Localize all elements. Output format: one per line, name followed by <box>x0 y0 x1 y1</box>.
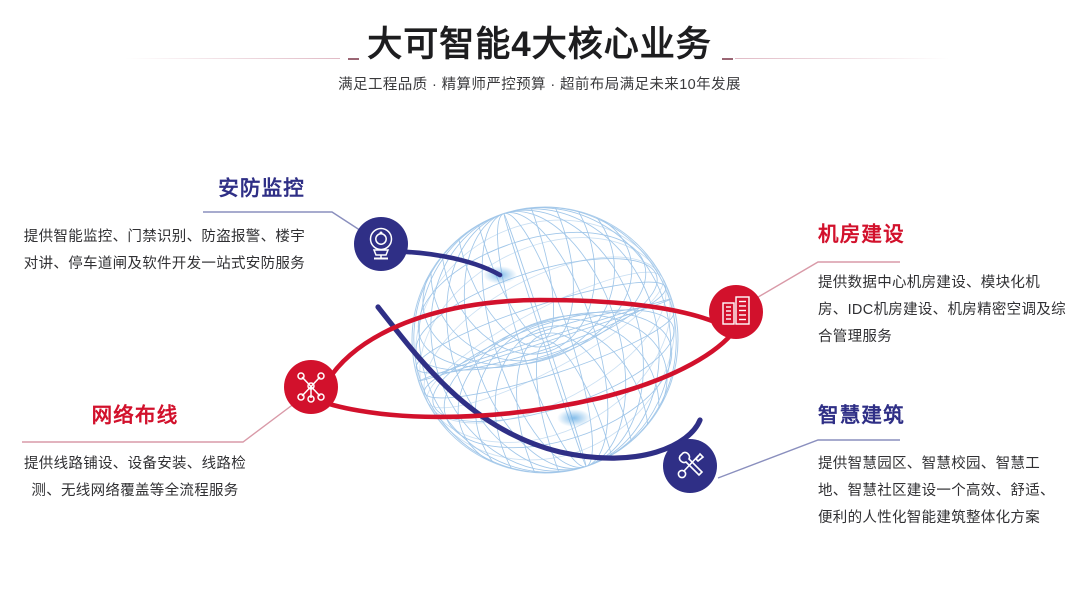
block-datacenter: 机房建设 提供数据中心机房建设、模块化机房、IDC机房建设、机房精密空调及综合管… <box>818 222 1068 351</box>
node-datacenter[interactable] <box>709 285 763 339</box>
label-cabling: 网络布线 <box>20 403 250 429</box>
desc-datacenter: 提供数据中心机房建设、模块化机房、IDC机房建设、机房精密空调及综合管理服务 <box>818 270 1068 351</box>
wireframe-globe <box>350 88 740 592</box>
label-datacenter: 机房建设 <box>818 222 1068 248</box>
desc-cabling: 提供线路铺设、设备安装、线路检测、无线网络覆盖等全流程服务 <box>20 451 250 505</box>
block-security: 安防监控 提供智能监控、门禁识别、防盗报警、楼宇对讲、停车道闸及软件开发一站式安… <box>20 176 305 278</box>
node-cabling[interactable] <box>284 360 338 414</box>
label-building: 智慧建筑 <box>818 403 1066 429</box>
block-cabling: 网络布线 提供线路铺设、设备安装、线路检测、无线网络覆盖等全流程服务 <box>20 403 250 505</box>
label-security: 安防监控 <box>20 176 305 202</box>
node-building[interactable] <box>663 439 717 493</box>
node-security[interactable] <box>354 217 408 271</box>
desc-security: 提供智能监控、门禁识别、防盗报警、楼宇对讲、停车道闸及软件开发一站式安防服务 <box>20 224 305 278</box>
globe-pole-south <box>557 409 591 427</box>
desc-building: 提供智慧园区、智慧校园、智慧工地、智慧社区建设一个高效、舒适、便利的人性化智能建… <box>818 451 1066 532</box>
slide-root: 大可智能4大核心业务 满足工程品质 · 精算师严控预算 · 超前布局满足未来10… <box>0 0 1079 607</box>
block-building: 智慧建筑 提供智慧园区、智慧校园、智慧工地、智慧社区建设一个高效、舒适、便利的人… <box>818 403 1066 532</box>
